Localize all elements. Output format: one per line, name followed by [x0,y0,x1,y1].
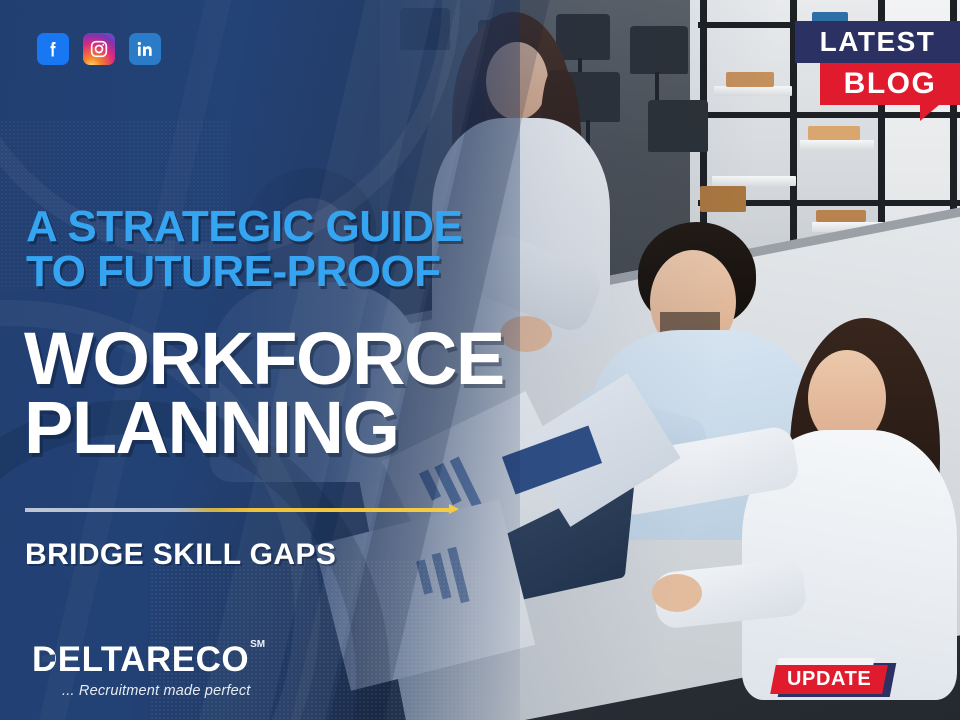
headline-subtitle: BRIDGE SKILL GAPS [25,538,336,572]
arrow-right-icon [449,504,459,514]
headline-kicker: A STRATEGIC GUIDE TO FUTURE-PROOF [26,205,646,295]
divider-bar [25,508,450,512]
badge-update-body: UPDATE [770,665,888,694]
social-link-linkedin[interactable] [129,33,161,65]
badge-blog: BLOG [820,63,960,105]
facebook-icon [43,39,63,59]
headline-main-line-2: PLANNING [24,394,704,463]
logo-wordmark: DELTARECO [32,640,249,679]
badge-update-cap [777,658,874,665]
social-link-instagram[interactable] [83,33,115,65]
instagram-icon [89,39,109,59]
social-link-facebook[interactable] [37,33,69,65]
social-links [37,33,161,65]
blog-banner-poster: LATEST BLOG A STRATEGIC GUIDE TO FUTURE-… [0,0,960,720]
logo-d-notch [42,654,55,662]
badge-latest-label: LATEST [820,28,936,56]
badge-ribbon-tail [920,105,939,121]
headline-divider [25,507,450,513]
linkedin-icon [135,39,155,59]
logo-wordmark-wrap: DELTARECO SM [32,642,249,677]
badge-blog-label: BLOG [844,69,937,99]
headline-kicker-line-1: A STRATEGIC GUIDE [26,205,646,250]
headline-kicker-line-2: TO FUTURE-PROOF [26,250,646,295]
logo-tagline: ... Recruitment made perfect [62,683,251,699]
badge-update-label: UPDATE [787,668,871,691]
badge-latest: LATEST [795,21,960,63]
badge-update: UPDATE [773,658,893,698]
page-title: WORKFORCE PLANNING [24,325,704,463]
logo-trademark: SM [250,640,265,650]
brand-logo[interactable]: DELTARECO SM ... Recruitment made perfec… [32,642,251,699]
headline-main-line-1: WORKFORCE [24,325,704,394]
